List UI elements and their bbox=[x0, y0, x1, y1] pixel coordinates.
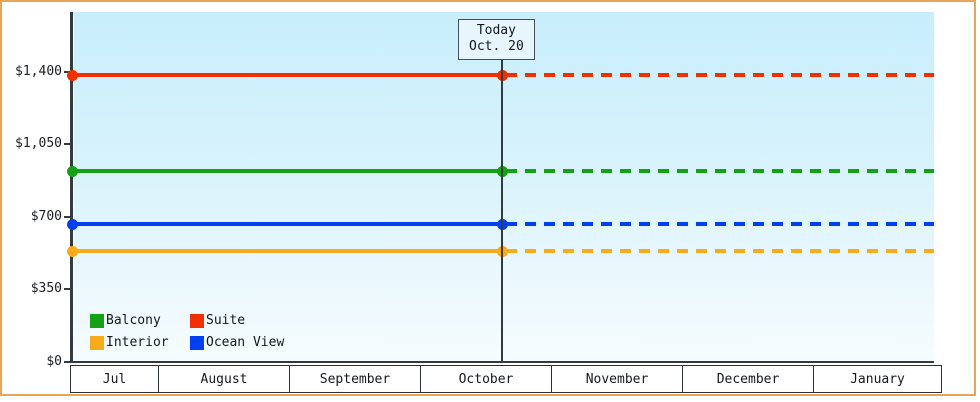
y-tick-label-1400: $1,400 bbox=[2, 64, 62, 79]
legend-label-interior: Interior bbox=[106, 333, 169, 353]
series-line-ocean-view-solid bbox=[72, 222, 504, 226]
month-cell-october[interactable]: October bbox=[421, 366, 552, 393]
legend-item-suite[interactable]: Suite bbox=[190, 311, 245, 331]
legend-swatch-interior-icon bbox=[90, 336, 104, 350]
legend-swatch-suite-icon bbox=[190, 314, 204, 328]
legend-item-interior[interactable]: Interior bbox=[90, 333, 190, 353]
legend-row-2: Interior Ocean View bbox=[90, 332, 284, 354]
series-line-interior-solid bbox=[72, 249, 504, 253]
today-label-line2: Oct. 20 bbox=[469, 39, 524, 55]
y-tick-1050 bbox=[64, 143, 73, 145]
month-axis-table: Jul August September October November De… bbox=[70, 365, 942, 393]
legend-swatch-balcony-icon bbox=[90, 314, 104, 328]
today-callout-box: Today Oct. 20 bbox=[458, 19, 535, 60]
series-line-interior-dashed bbox=[506, 249, 934, 253]
series-point-balcony-start bbox=[67, 166, 78, 177]
series-point-ocean-view-start bbox=[67, 219, 78, 230]
series-line-balcony-solid bbox=[72, 169, 504, 173]
month-cell-november[interactable]: November bbox=[552, 366, 683, 393]
month-cell-september[interactable]: September bbox=[290, 366, 421, 393]
y-tick-350 bbox=[64, 288, 73, 290]
series-point-suite-start bbox=[67, 70, 78, 81]
legend-label-ocean-view: Ocean View bbox=[206, 333, 284, 353]
chart-legend: Balcony Suite Interior Ocean View bbox=[90, 310, 284, 354]
month-cell-august[interactable]: August bbox=[159, 366, 290, 393]
y-tick-label-700: $700 bbox=[2, 209, 62, 224]
legend-label-suite: Suite bbox=[206, 311, 245, 331]
series-line-balcony-dashed bbox=[506, 169, 934, 173]
y-tick-label-1050: $1,050 bbox=[2, 136, 62, 151]
y-tick-label-350: $350 bbox=[2, 281, 62, 296]
series-point-interior-start bbox=[67, 246, 78, 257]
y-tick-0 bbox=[64, 361, 73, 363]
legend-swatch-ocean-view-icon bbox=[190, 336, 204, 350]
legend-row-1: Balcony Suite bbox=[90, 310, 284, 332]
price-trend-chart: $1,400 $1,050 $700 $350 $0 T bbox=[2, 2, 980, 402]
y-tick-700 bbox=[64, 216, 73, 218]
chart-frame: $1,400 $1,050 $700 $350 $0 T bbox=[0, 0, 976, 396]
month-cell-december[interactable]: December bbox=[683, 366, 814, 393]
month-cell-jul[interactable]: Jul bbox=[71, 366, 159, 393]
month-axis-row: Jul August September October November De… bbox=[71, 366, 942, 393]
today-label-line1: Today bbox=[469, 23, 524, 39]
month-cell-january[interactable]: January bbox=[814, 366, 942, 393]
legend-item-balcony[interactable]: Balcony bbox=[90, 311, 190, 331]
today-vertical-line bbox=[501, 20, 503, 362]
series-line-ocean-view-dashed bbox=[506, 222, 934, 226]
y-tick-label-0: $0 bbox=[2, 354, 62, 369]
series-line-suite-solid bbox=[72, 73, 504, 77]
legend-item-ocean-view[interactable]: Ocean View bbox=[190, 333, 284, 353]
series-line-suite-dashed bbox=[506, 73, 934, 77]
legend-label-balcony: Balcony bbox=[106, 311, 161, 331]
y-axis-line bbox=[70, 12, 73, 363]
